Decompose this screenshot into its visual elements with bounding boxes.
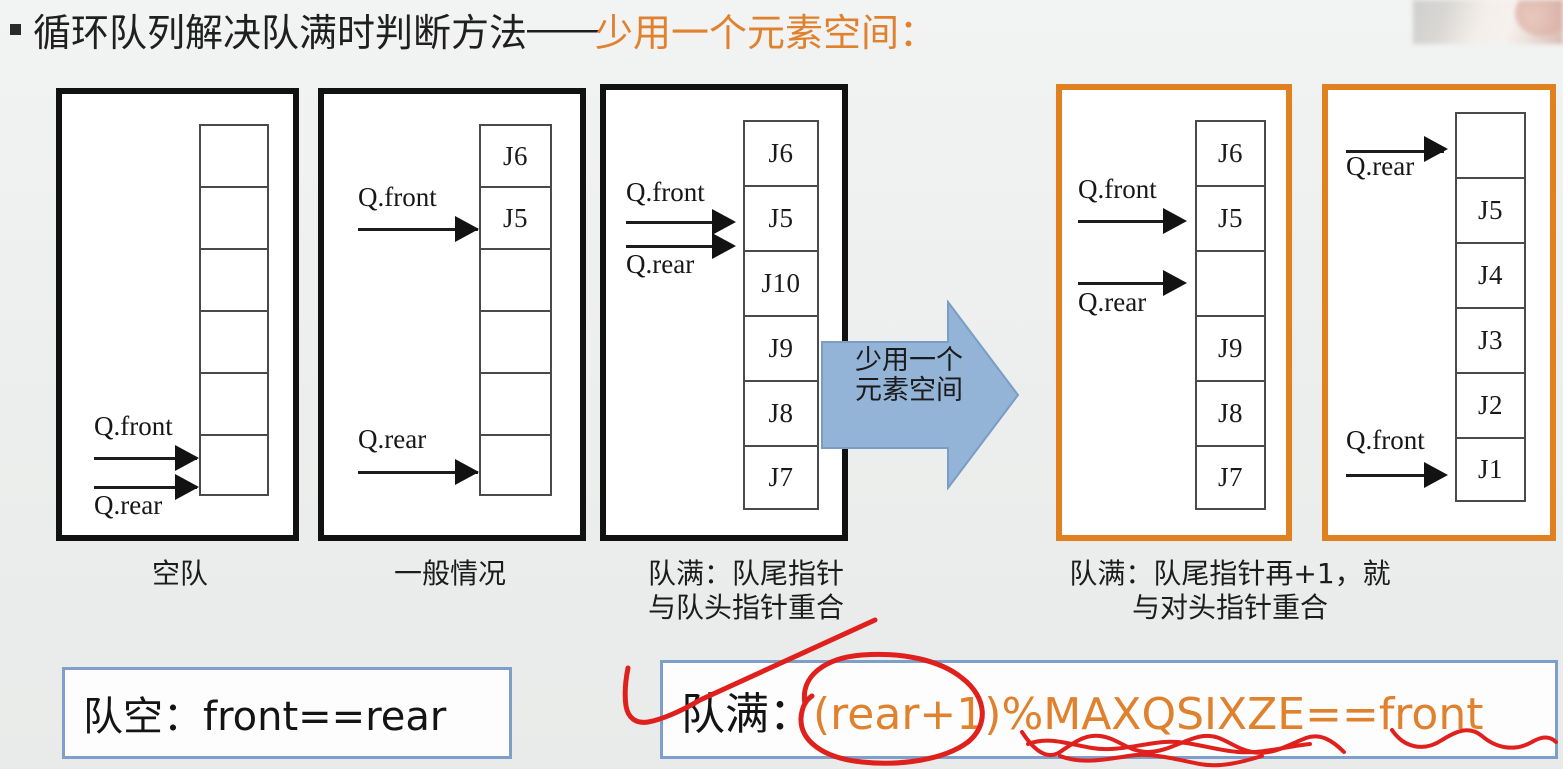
queue-cell <box>199 434 269 496</box>
title-text-orange: 少用一个元素空间： <box>595 2 937 57</box>
diagram-panel-queue-full-sequence: J5 J4 J3 J2 J1 Q.rear Q.front <box>1322 84 1556 541</box>
pointer-label-q-rear: Q.rear <box>358 424 426 455</box>
diagram-panel-general-case: J6 J5 Q.front Q.rear <box>318 88 586 541</box>
formula-queue-full-label: 队满： <box>681 689 813 740</box>
queue-cell: J5 <box>479 186 552 248</box>
pointer-arrow-head <box>175 445 199 471</box>
diagram-panel-queue-full-overlap: J6 J5 J10 J9 J8 J7 Q.front Q.rear <box>600 84 848 541</box>
pointer-arrow-head <box>175 474 199 500</box>
queue-cell: J7 <box>1195 445 1266 510</box>
formula-queue-empty-text: 队空：front==rear <box>65 684 446 742</box>
title-dash: —— <box>527 8 595 51</box>
pointer-label-q-rear: Q.rear <box>1078 287 1146 318</box>
queue-cell: J6 <box>1195 120 1266 185</box>
queue-cell: J8 <box>743 380 819 445</box>
pointer-label-q-front: Q.front <box>1078 174 1157 205</box>
formula-box-queue-full: 队满：(rear+1)%MAXQSIXZE==front <box>660 660 1558 759</box>
queue-cell: J4 <box>1455 242 1526 307</box>
queue-cell <box>1455 112 1526 177</box>
queue-cells-sequence: J5 J4 J3 J2 J1 <box>1455 112 1526 502</box>
pointer-label-q-front: Q.front <box>626 177 705 208</box>
webcam-overlay <box>1413 0 1563 44</box>
pointer-arrow-head <box>712 233 736 259</box>
queue-cell <box>199 248 269 310</box>
pointer-arrow-head <box>712 209 736 235</box>
queue-cell <box>479 372 552 434</box>
queue-cell: J9 <box>743 315 819 380</box>
queue-cells-general: J6 J5 <box>479 124 552 496</box>
caption-general-case: 一般情况 <box>335 557 565 591</box>
queue-cell: J5 <box>743 185 819 250</box>
queue-cell: J1 <box>1455 437 1526 502</box>
pointer-arrow-head <box>455 459 479 485</box>
formula-queue-empty-label: 队空： <box>83 694 203 740</box>
queue-cells-empty <box>199 124 269 496</box>
queue-cell <box>199 124 269 186</box>
pointer-label-q-front: Q.front <box>94 411 173 442</box>
queue-cell: J5 <box>1195 185 1266 250</box>
pointer-arrow-head <box>455 216 479 242</box>
queue-cell <box>199 372 269 434</box>
pointer-label-q-rear: Q.rear <box>94 490 162 521</box>
diagram-panel-queue-full-one-spare: J6 J5 J9 J8 J7 Q.front Q.rear <box>1056 84 1292 541</box>
formula-queue-empty-expr: front==rear <box>203 694 446 740</box>
queue-cell: J6 <box>743 120 819 185</box>
caption-queue-full-overlap: 队满：队尾指针 与队头指针重合 <box>596 557 896 624</box>
queue-cells-full-overlap: J6 J5 J10 J9 J8 J7 <box>743 120 819 510</box>
queue-cell: J6 <box>479 124 552 186</box>
queue-cell <box>199 186 269 248</box>
queue-cell <box>479 310 552 372</box>
queue-cell: J2 <box>1455 372 1526 437</box>
transition-arrow: 少用一个 元素空间 <box>820 300 1020 490</box>
title-text-black: 循环队列解决队满时判断方法 <box>33 2 527 57</box>
transition-arrow-line2: 元素空间 <box>842 376 976 406</box>
pointer-arrow-head <box>1424 462 1448 488</box>
formula-queue-full-text: 队满：(rear+1)%MAXQSIXZE==front <box>663 678 1483 742</box>
queue-cell: J9 <box>1195 315 1266 380</box>
pointer-arrow-head <box>1163 270 1187 296</box>
square-bullet-icon <box>10 24 21 35</box>
formula-box-queue-empty: 队空：front==rear <box>62 667 512 759</box>
pointer-label-q-front: Q.front <box>1346 425 1425 456</box>
formula-queue-full-expr: (rear+1)%MAXQSIXZE==front <box>813 689 1483 740</box>
queue-cell: J3 <box>1455 307 1526 372</box>
transition-arrow-text: 少用一个 元素空间 <box>842 346 976 406</box>
caption-empty-queue: 空队 <box>80 557 280 591</box>
queue-cell <box>1195 250 1266 315</box>
diagram-panel-empty-queue: Q.front Q.rear <box>56 88 299 541</box>
queue-cell: J5 <box>1455 177 1526 242</box>
queue-cell: J7 <box>743 445 819 510</box>
caption-queue-full-one-spare: 队满：队尾指针再+1，就 与对头指针重合 <box>910 557 1550 624</box>
pointer-label-q-rear: Q.rear <box>1346 151 1414 182</box>
pointer-arrow-head <box>1424 136 1448 162</box>
queue-cell <box>479 248 552 310</box>
queue-cells-one-spare: J6 J5 J9 J8 J7 <box>1195 120 1266 510</box>
queue-cell <box>479 434 552 496</box>
slide-canvas: 循环队列解决队满时判断方法 —— 少用一个元素空间： Q.front Q.rea… <box>0 0 1563 769</box>
page-title: 循环队列解决队满时判断方法 —— 少用一个元素空间： <box>10 4 1410 54</box>
pointer-arrow-head <box>1163 208 1187 234</box>
queue-cell: J8 <box>1195 380 1266 445</box>
transition-arrow-line1: 少用一个 <box>842 346 976 376</box>
pointer-label-q-rear: Q.rear <box>626 249 694 280</box>
pointer-label-q-front: Q.front <box>358 182 437 213</box>
queue-cell: J10 <box>743 250 819 315</box>
queue-cell <box>199 310 269 372</box>
